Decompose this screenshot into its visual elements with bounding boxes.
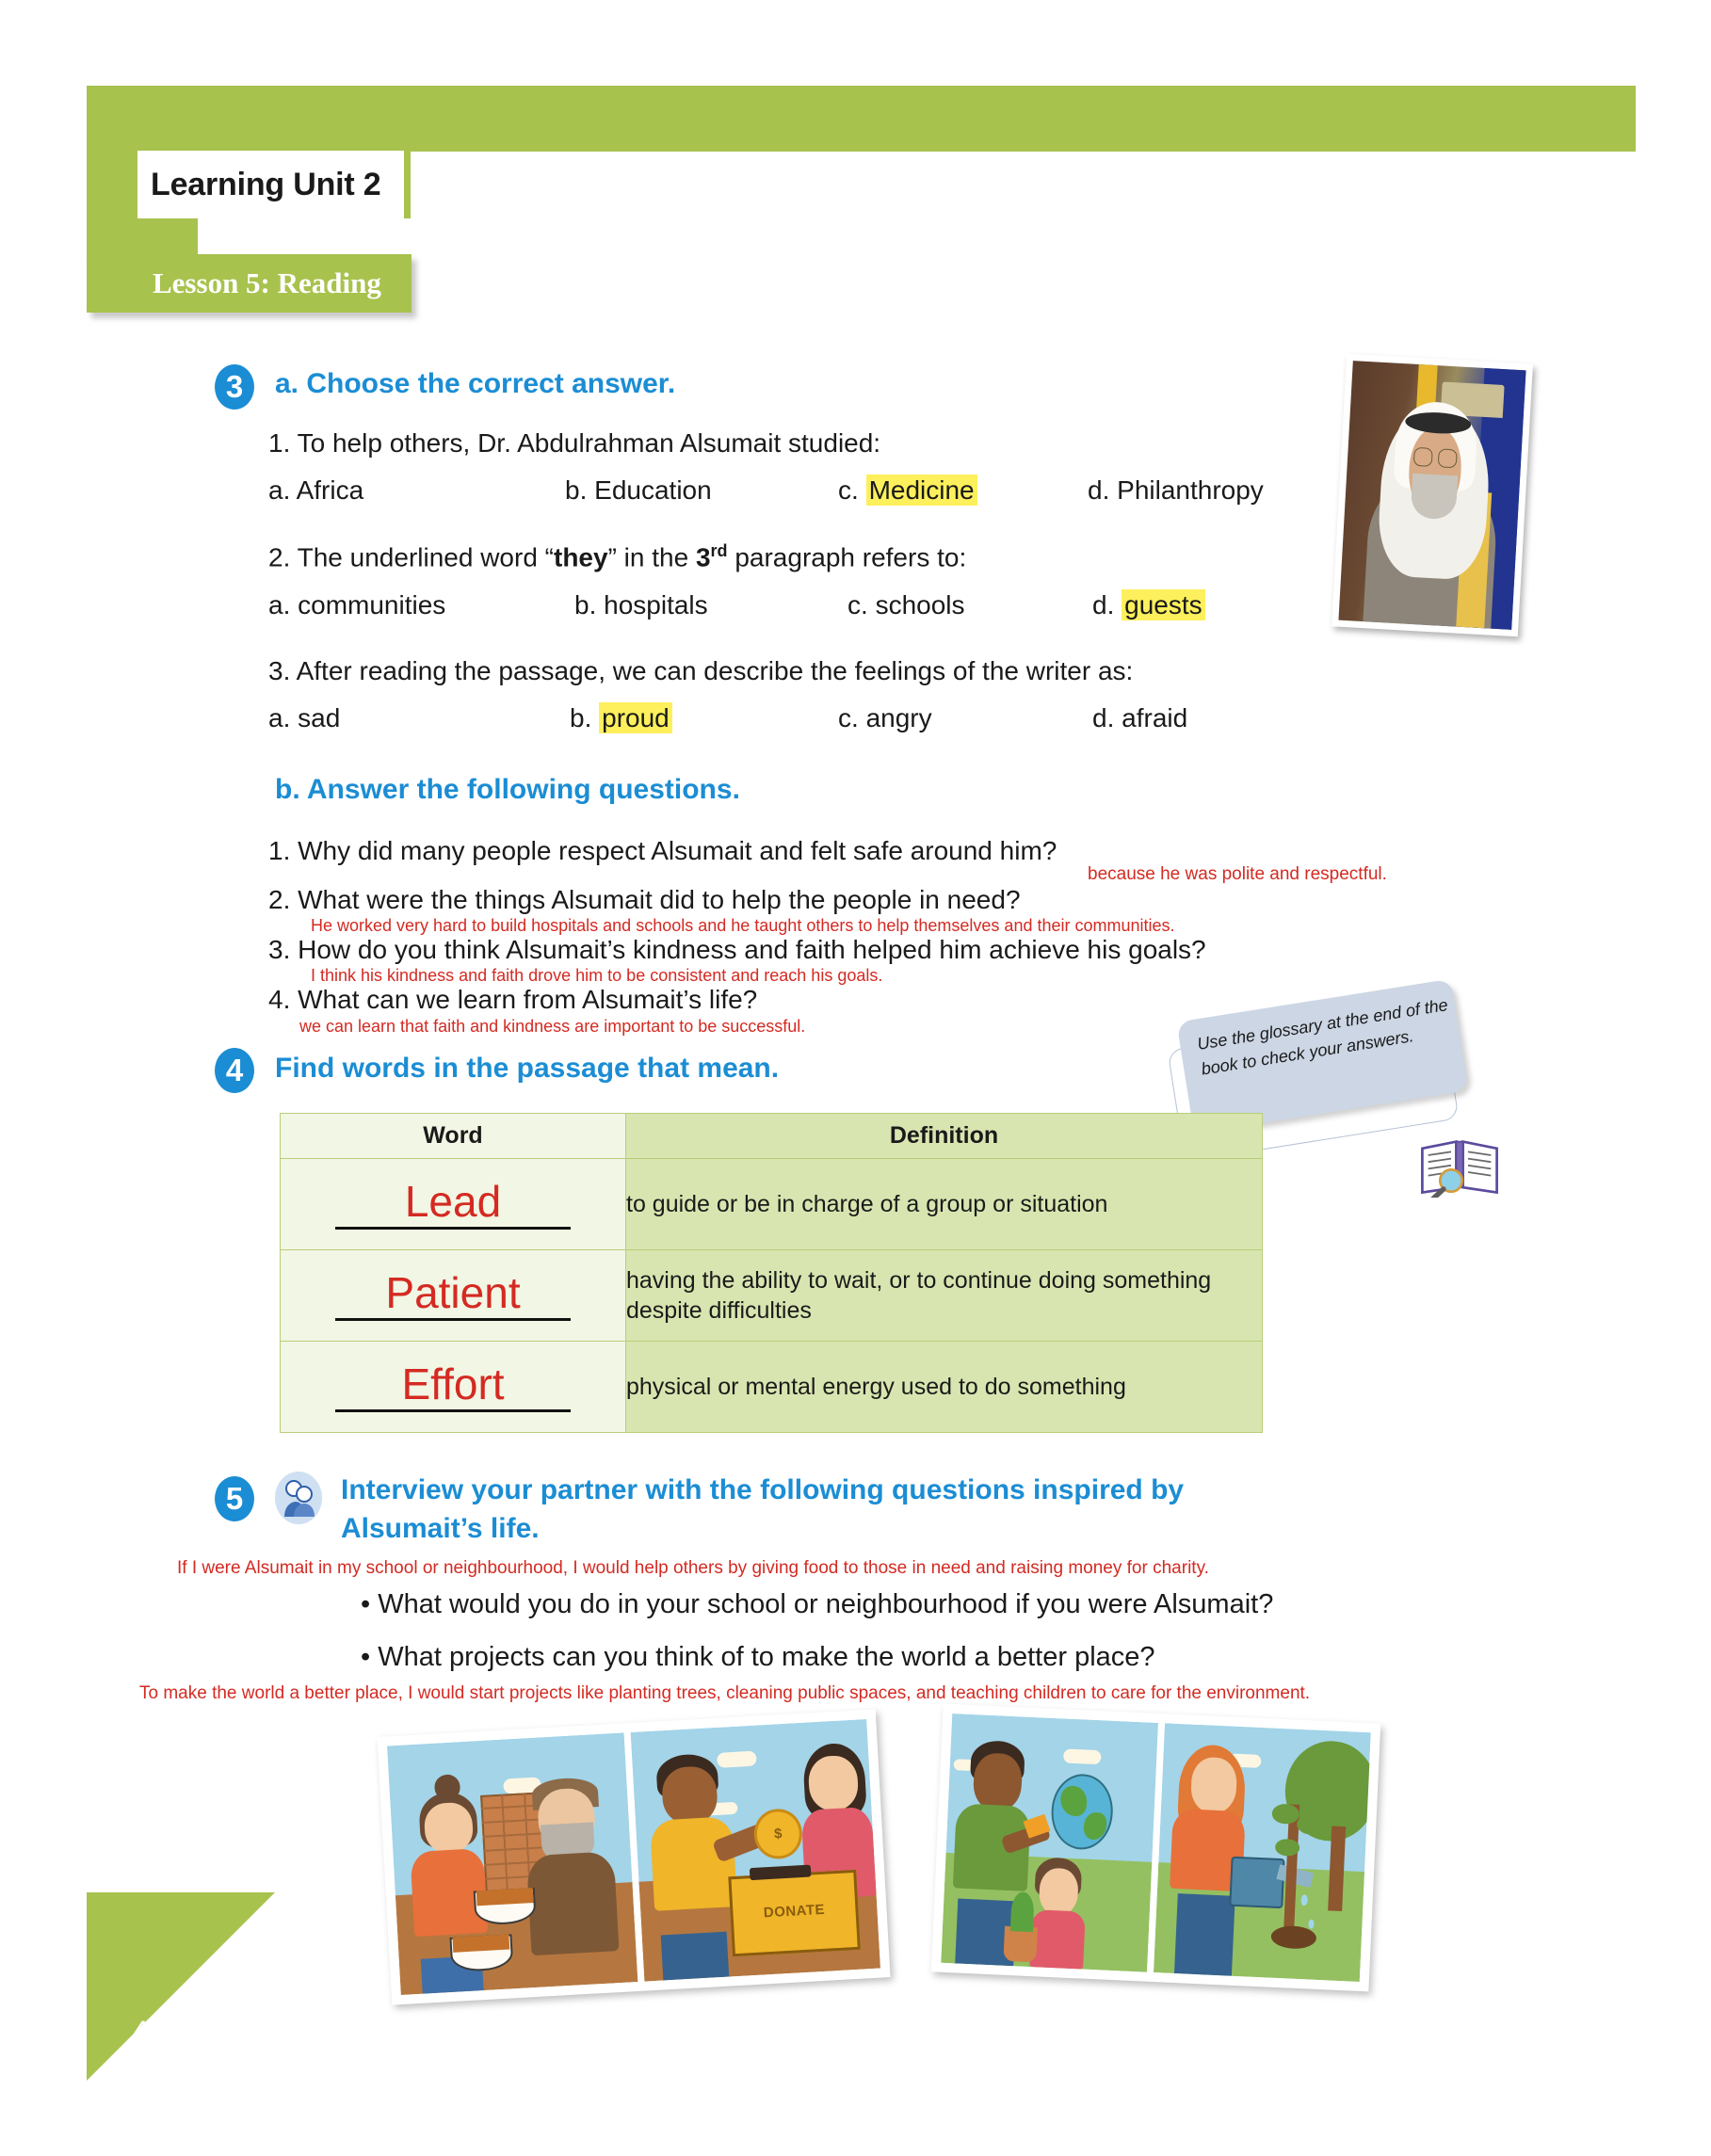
q3a-2-stem-part3: paragraph refers to:	[728, 542, 967, 571]
q3a-1-option-a[interactable]: a. Africa	[268, 475, 363, 506]
q3a-2-stem-sup: rd	[711, 541, 728, 560]
vocabulary-table: Word Definition Lead to guide or be in c…	[280, 1113, 1263, 1433]
q3a-3-stem: 3. After reading the passage, we can des…	[268, 656, 1133, 686]
table-row: Lead to guide or be in charge of a group…	[281, 1159, 1263, 1250]
vocab-answer-2: Patient	[335, 1270, 571, 1322]
q3a-2-stem-bold-3: 3	[696, 542, 711, 571]
unit-title-box: Learning Unit 2	[137, 151, 411, 218]
q3a-2-stem-bold-they: they	[554, 542, 608, 571]
q3b-2: 2. What were the things Alsumait did to …	[268, 885, 1021, 915]
q3b-1: 1. Why did many people respect Alsumait …	[268, 836, 1057, 866]
q3a-2-option-a-text: communities	[298, 590, 445, 619]
vocab-answer-cell-2[interactable]: Patient	[281, 1250, 626, 1342]
exercise-5-bullet-1: • What would you do in your school or ne…	[361, 1589, 1273, 1620]
q3a-2-option-a-label: a.	[268, 590, 290, 619]
q3a-1-option-d-text: Philanthropy	[1117, 475, 1264, 505]
exercise-5-title-line1: Interview your partner with the followin…	[341, 1474, 1184, 1506]
q3a-2-stem-part2: ” in the	[608, 542, 696, 571]
table-row: Effort physical or mental energy used to…	[281, 1342, 1263, 1433]
illustration-donation-box: $ DONATE	[630, 1719, 880, 1982]
q3a-1-option-c-text: Medicine	[866, 475, 977, 506]
vocab-answer-1: Lead	[335, 1179, 571, 1231]
illustration-strip-charity: $ DONATE	[377, 1709, 890, 2004]
exercise-3b-title: b. Answer the following questions.	[275, 774, 740, 806]
q3a-3-option-c-text: angry	[866, 703, 932, 732]
vocab-answer-cell-3[interactable]: Effort	[281, 1342, 626, 1433]
q3a-3-option-d[interactable]: d. afraid	[1092, 703, 1187, 733]
pair-work-icon	[275, 1472, 322, 1524]
q3a-2-option-b[interactable]: b. hospitals	[574, 590, 708, 620]
vocab-definition-2: having the ability to wait, or to contin…	[626, 1250, 1263, 1342]
q3b-2-answer[interactable]: He worked very hard to build hospitals a…	[311, 916, 1175, 936]
q3b-3: 3. How do you think Alsumait’s kindness …	[268, 935, 1206, 965]
lesson-title-box: Lesson 5: Reading	[87, 254, 412, 313]
q3a-2-option-d-text: guests	[1122, 589, 1205, 620]
q3a-1-option-b-text: Education	[594, 475, 712, 505]
worksheet-page: Learning Unit 2 Lesson 5: Reading 3 a. C…	[0, 0, 1711, 2156]
q3a-2-option-c[interactable]: c. schools	[847, 590, 965, 620]
exercise-3-number-label: 3	[226, 369, 243, 405]
q3a-3-option-c[interactable]: c. angry	[838, 703, 932, 733]
illustration-soup-kitchen	[387, 1732, 638, 1995]
exercise-5-title-line2: Alsumait’s life.	[341, 1513, 540, 1545]
coin-label: $	[774, 1826, 783, 1842]
q3b-4: 4. What can we learn from Alsumait’s lif…	[268, 985, 757, 1015]
q3a-2-option-d[interactable]: d. guests	[1092, 590, 1205, 620]
table-row: Patient having the ability to wait, or t…	[281, 1250, 1263, 1342]
q3a-1-option-a-label: a.	[268, 475, 290, 505]
open-book-icon	[1417, 1130, 1502, 1198]
q3a-2-option-c-text: schools	[876, 590, 965, 619]
vocab-definition-1: to guide or be in charge of a group or s…	[626, 1159, 1263, 1250]
q3a-1-option-d-label: d.	[1088, 475, 1109, 505]
q3a-2-option-a[interactable]: a. communities	[268, 590, 445, 620]
q3a-3-option-c-label: c.	[838, 703, 859, 732]
alsumait-photo-image	[1338, 361, 1525, 630]
q3a-1-option-b[interactable]: b. Education	[565, 475, 712, 506]
q3a-3-option-b-label: b.	[570, 703, 591, 732]
q3a-2-option-b-label: b.	[574, 590, 596, 619]
q3a-2-option-c-label: c.	[847, 590, 868, 619]
q3a-1-option-d[interactable]: d. Philanthropy	[1088, 475, 1264, 506]
q3a-1-option-b-label: b.	[565, 475, 587, 505]
q3a-3-option-a[interactable]: a. sad	[268, 703, 340, 733]
alsumait-photo	[1332, 354, 1533, 637]
q3a-1-option-c[interactable]: c. Medicine	[838, 475, 977, 506]
q3a-2-stem: 2. The underlined word “they” in the 3rd…	[268, 541, 966, 572]
exercise-4-number: 4	[215, 1048, 254, 1093]
q3a-1-option-a-text: Africa	[297, 475, 364, 505]
q3a-1-stem: 1. To help others, Dr. Abdulrahman Alsum…	[268, 428, 880, 459]
exercise-4-title: Find words in the passage that mean.	[275, 1053, 779, 1085]
exercise-3a-title: a. Choose the correct answer.	[275, 368, 675, 400]
table-header-definition: Definition	[626, 1114, 1263, 1159]
illustration-strip-environment	[931, 1704, 1380, 1992]
unit-title: Learning Unit 2	[137, 167, 380, 203]
q3a-3-option-d-text: afraid	[1122, 703, 1187, 732]
q3a-3-option-b[interactable]: b. proud	[570, 703, 672, 733]
q3b-3-answer[interactable]: I think his kindness and faith drove him…	[311, 966, 882, 986]
page-corner-decoration	[87, 1892, 275, 2081]
vocab-definition-3: physical or mental energy used to do som…	[626, 1342, 1263, 1433]
exercise-5-number: 5	[215, 1476, 254, 1521]
exercise-5-bullet-2: • What projects can you think of to make…	[361, 1642, 1155, 1673]
q3a-3-option-a-label: a.	[268, 703, 290, 732]
vocab-answer-cell-1[interactable]: Lead	[281, 1159, 626, 1250]
q3a-2-option-d-label: d.	[1092, 590, 1114, 619]
illustration-planting-tree	[1154, 1723, 1371, 1982]
exercise-4-number-label: 4	[226, 1053, 243, 1088]
q3b-1-answer[interactable]: because he was polite and respectful.	[1088, 864, 1387, 885]
table-header-word: Word	[281, 1114, 626, 1159]
exercise-5-number-label: 5	[226, 1481, 243, 1517]
table-header-row: Word Definition	[281, 1114, 1263, 1159]
q3a-3-option-d-label: d.	[1092, 703, 1114, 732]
exercise-5-answer-top[interactable]: If I were Alsumait in my school or neigh…	[177, 1558, 1209, 1579]
illustration-caring-for-earth	[941, 1714, 1158, 1972]
q3a-3-option-b-text: proud	[599, 702, 672, 733]
vocab-answer-3: Effort	[335, 1361, 571, 1413]
exercise-3-number: 3	[215, 364, 254, 410]
exercise-5-answer-bottom[interactable]: To make the world a better place, I woul…	[139, 1683, 1310, 1704]
q3a-1-option-c-label: c.	[838, 475, 859, 505]
q3a-3-option-a-text: sad	[298, 703, 340, 732]
page-number: 40	[132, 2015, 166, 2050]
header-green-bar	[87, 86, 1636, 152]
q3a-2-option-b-text: hospitals	[604, 590, 708, 619]
q3a-2-stem-part1: 2. The underlined word “	[268, 542, 554, 571]
lesson-title: Lesson 5: Reading	[87, 266, 381, 300]
q3b-4-answer[interactable]: we can learn that faith and kindness are…	[299, 1017, 805, 1037]
